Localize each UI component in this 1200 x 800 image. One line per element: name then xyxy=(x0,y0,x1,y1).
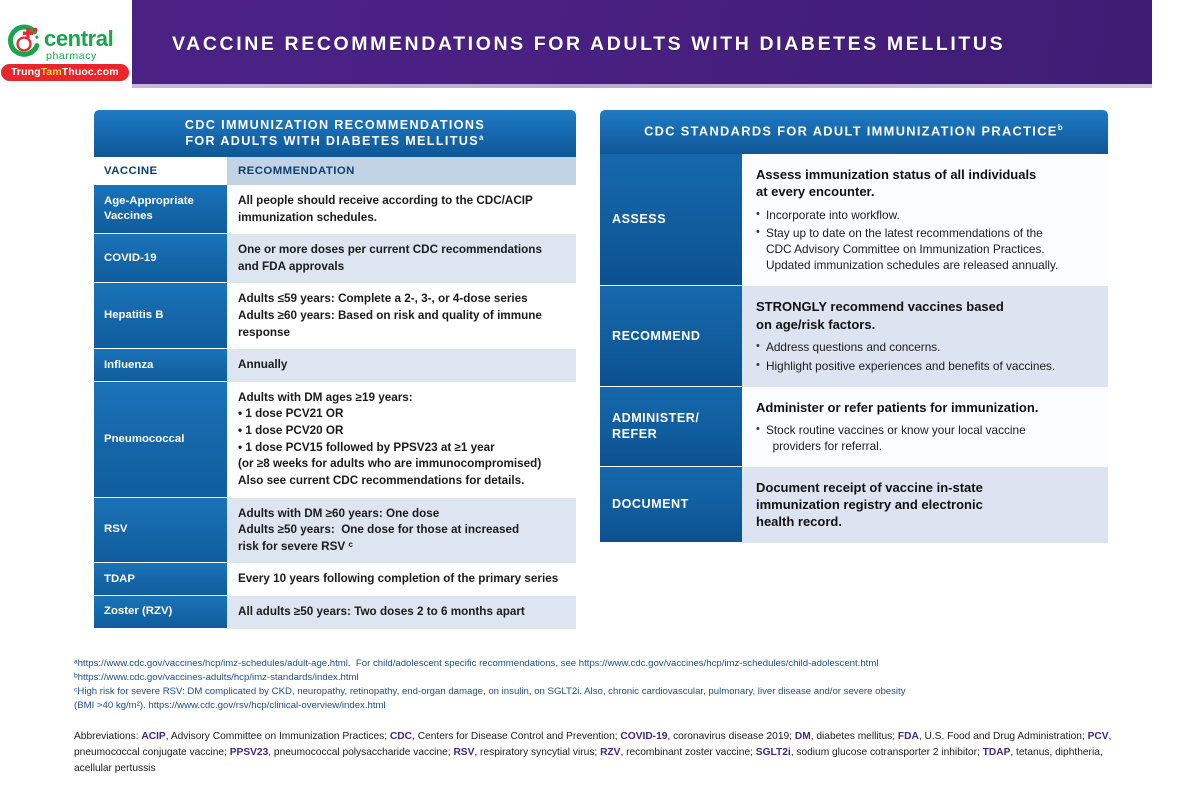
left-table-body: Age-Appropriate VaccinesAll people shoul… xyxy=(94,185,576,629)
site-badge[interactable]: TrungTamThuoc.com xyxy=(1,64,129,81)
recommendation-line: Every 10 years following completion of t… xyxy=(238,571,564,588)
vaccine-name-cell: Zoster (RZV) xyxy=(94,596,227,629)
standard-row: ADMINISTER/ REFERAdminister or refer pat… xyxy=(600,387,1108,467)
abbreviation-definition: , coronavirus disease 2019; xyxy=(667,731,794,742)
logo-wordmark: central xyxy=(44,26,113,52)
standard-label-cell: ADMINISTER/ REFER xyxy=(600,387,742,467)
recommendation-cell: One or more doses per current CDC recomm… xyxy=(227,234,576,283)
abbreviation-key: ACIP xyxy=(141,731,165,742)
recommendation-line: Adults ≥50 years: One dose for those at … xyxy=(238,522,564,539)
footnote-c: ᶜHigh risk for severe RSV: DM complicate… xyxy=(74,685,1134,713)
footnote-b: ᵇhttps://www.cdc.gov/vaccines-adults/hcp… xyxy=(74,671,1134,685)
page-header: VACCINE RECOMMENDATIONS FOR ADULTS WITH … xyxy=(0,0,1152,88)
recommendation-cell: Adults with DM ≥60 years: One doseAdults… xyxy=(227,498,576,564)
table-row: Age-Appropriate VaccinesAll people shoul… xyxy=(94,185,576,234)
recommendation-line: • 1 dose PCV21 OR xyxy=(238,406,564,423)
recommendation-line: Adults with DM ages ≥19 years: xyxy=(238,390,564,407)
recommendation-line: risk for severe RSV ᶜ xyxy=(238,539,564,556)
recommendation-line: immunization schedules. xyxy=(238,210,564,227)
recommendation-cell: Adults with DM ages ≥19 years:• 1 dose P… xyxy=(227,382,576,498)
footnote-a: ᵃhttps://www.cdc.gov/vaccines/hcp/imz-sc… xyxy=(74,657,1134,671)
page-title: VACCINE RECOMMENDATIONS FOR ADULTS WITH … xyxy=(172,0,1005,88)
central-pharmacy-logo-icon xyxy=(5,22,43,60)
standard-heading: Administer or refer patients for immuniz… xyxy=(756,399,1096,416)
right-title-footnote-marker: b xyxy=(1058,123,1064,132)
cdc-recommendations-panel: CDC IMMUNIZATION RECOMMENDATIONS FOR ADU… xyxy=(94,110,576,629)
vaccine-name-cell: RSV xyxy=(94,498,227,564)
abbreviation-key: FDA xyxy=(898,731,919,742)
recommendation-line: (or ≥8 weeks for adults who are immunoco… xyxy=(238,456,564,473)
standard-bullet-item: Stay up to date on the latest recommenda… xyxy=(756,226,1096,274)
table-row: PneumococcalAdults with DM ages ≥19 year… xyxy=(94,382,576,498)
standard-row: DOCUMENTDocument receipt of vaccine in-s… xyxy=(600,467,1108,543)
vaccine-name-cell: TDAP xyxy=(94,563,227,596)
abbreviations-block: Abbreviations: ACIP, Advisory Committee … xyxy=(74,729,1114,776)
left-title-line2: FOR ADULTS WITH DIABETES MELLITUS xyxy=(185,135,479,149)
standard-bullet-item: Address questions and concerns. xyxy=(756,340,1096,356)
abbreviation-key: COVID-19 xyxy=(620,731,667,742)
table-row: InfluenzaAnnually xyxy=(94,349,576,382)
recommendation-line: Annually xyxy=(238,357,564,374)
standard-heading: Document receipt of vaccine in-state imm… xyxy=(756,479,1096,531)
abbreviation-definition: , Advisory Committee on Immunization Pra… xyxy=(166,731,390,742)
right-title-text: CDC STANDARDS FOR ADULT IMMUNIZATION PRA… xyxy=(644,124,1058,139)
abbreviation-key: RSV xyxy=(453,747,474,758)
badge-highlight: Tam xyxy=(41,66,62,78)
standard-heading: Assess immunization status of all indivi… xyxy=(756,166,1096,201)
header-underline xyxy=(0,84,1152,88)
recommendation-line: and FDA approvals xyxy=(238,259,564,276)
standard-heading: STRONGLY recommend vaccines based on age… xyxy=(756,298,1096,333)
column-header-vaccine: VACCINE xyxy=(94,157,227,185)
vaccine-name-cell: Hepatitis B xyxy=(94,283,227,349)
standard-row: ASSESSAssess immunization status of all … xyxy=(600,154,1108,286)
recommendation-cell: All people should receive according to t… xyxy=(227,185,576,234)
right-panel-title: CDC STANDARDS FOR ADULT IMMUNIZATION PRA… xyxy=(600,110,1108,154)
recommendation-line: Adults ≤59 years: Complete a 2-, 3-, or … xyxy=(238,291,564,308)
table-row: Zoster (RZV)All adults ≥50 years: Two do… xyxy=(94,596,576,629)
column-header-recommendation: RECOMMENDATION xyxy=(227,157,576,185)
standard-bullet-item: Highlight positive experiences and benef… xyxy=(756,359,1096,375)
table-row: Hepatitis BAdults ≤59 years: Complete a … xyxy=(94,283,576,349)
abbreviation-key: SGLT2i xyxy=(756,747,791,758)
standard-label-cell: RECOMMEND xyxy=(600,286,742,386)
left-panel-title: CDC IMMUNIZATION RECOMMENDATIONS FOR ADU… xyxy=(94,110,576,157)
abbreviations-intro: Abbreviations: xyxy=(74,731,141,742)
abbreviation-key: PPSV23 xyxy=(230,747,269,758)
recommendation-line: Adults ≥60 years: Based on risk and qual… xyxy=(238,308,564,325)
left-table-header-row: VACCINE RECOMMENDATION xyxy=(94,157,576,185)
abbreviation-definition: , respiratory syncytial virus; xyxy=(474,747,600,758)
standard-bullet-list: Incorporate into workflow.Stay up to dat… xyxy=(756,205,1096,275)
standard-content-cell: Assess immunization status of all indivi… xyxy=(742,154,1108,286)
recommendation-cell: All adults ≥50 years: Two doses 2 to 6 m… xyxy=(227,596,576,629)
logo[interactable]: central pharmacy TrungTamThuoc.com xyxy=(0,0,132,88)
abbreviation-definition: , diabetes mellitus; xyxy=(811,731,898,742)
vaccine-name-cell: Pneumococcal xyxy=(94,382,227,498)
standard-label-cell: DOCUMENT xyxy=(600,467,742,543)
table-row: COVID-19One or more doses per current CD… xyxy=(94,234,576,283)
abbreviations-list: ACIP, Advisory Committee on Immunization… xyxy=(74,731,1111,774)
abbreviation-definition: , Centers for Disease Control and Preven… xyxy=(412,731,620,742)
footnotes: ᵃhttps://www.cdc.gov/vaccines/hcp/imz-sc… xyxy=(74,657,1134,713)
standard-content-cell: STRONGLY recommend vaccines based on age… xyxy=(742,286,1108,386)
vaccine-name-cell: Age-Appropriate Vaccines xyxy=(94,185,227,234)
standard-bullet-item: Incorporate into workflow. xyxy=(756,208,1096,224)
abbreviation-definition: , sodium glucose cotransporter 2 inhibit… xyxy=(791,747,983,758)
recommendation-line: Also see current CDC recommendations for… xyxy=(238,473,564,490)
logo-subtitle: pharmacy xyxy=(46,50,97,62)
right-panel-body: ASSESSAssess immunization status of all … xyxy=(600,154,1108,543)
badge-pre: Trung xyxy=(11,66,41,78)
standard-label-cell: ASSESS xyxy=(600,154,742,286)
recommendation-line: Adults with DM ≥60 years: One dose xyxy=(238,506,564,523)
standard-bullet-list: Stock routine vaccines or know your loca… xyxy=(756,420,1096,455)
abbreviation-key: CDC xyxy=(390,731,412,742)
abbreviation-key: RZV xyxy=(600,747,620,758)
standard-content-cell: Document receipt of vaccine in-state imm… xyxy=(742,467,1108,543)
standard-bullet-list: Address questions and concerns.Highlight… xyxy=(756,337,1096,375)
badge-post: Thuoc.com xyxy=(62,66,119,78)
standard-content-cell: Administer or refer patients for immuniz… xyxy=(742,387,1108,467)
recommendation-line: response xyxy=(238,325,564,342)
abbreviation-definition: , pneumococcal polysaccharide vaccine; xyxy=(268,747,453,758)
table-row: TDAPEvery 10 years following completion … xyxy=(94,563,576,596)
recommendation-line: One or more doses per current CDC recomm… xyxy=(238,242,564,259)
recommendation-cell: Annually xyxy=(227,349,576,382)
vaccine-name-cell: COVID-19 xyxy=(94,234,227,283)
recommendation-line: All people should receive according to t… xyxy=(238,193,564,210)
table-row: RSVAdults with DM ≥60 years: One doseAdu… xyxy=(94,498,576,564)
recommendation-cell: Every 10 years following completion of t… xyxy=(227,563,576,596)
cdc-standards-panel: CDC STANDARDS FOR ADULT IMMUNIZATION PRA… xyxy=(600,110,1108,543)
recommendation-line: • 1 dose PCV20 OR xyxy=(238,423,564,440)
abbreviation-key: DM xyxy=(795,731,811,742)
recommendation-line: • 1 dose PCV15 followed by PPSV23 at ≥1 … xyxy=(238,440,564,457)
recommendation-line: All adults ≥50 years: Two doses 2 to 6 m… xyxy=(238,604,564,621)
standard-row: RECOMMENDSTRONGLY recommend vaccines bas… xyxy=(600,286,1108,386)
abbreviation-definition: , recombinant zoster vaccine; xyxy=(620,747,755,758)
recommendation-cell: Adults ≤59 years: Complete a 2-, 3-, or … xyxy=(227,283,576,349)
left-title-line1: CDC IMMUNIZATION RECOMMENDATIONS xyxy=(185,118,485,132)
standard-bullet-item: Stock routine vaccines or know your loca… xyxy=(756,423,1096,455)
abbreviation-key: TDAP xyxy=(983,747,1011,758)
infographic-page: VACCINE RECOMMENDATIONS FOR ADULTS WITH … xyxy=(0,0,1200,800)
abbreviation-definition: , U.S. Food and Drug Administration; xyxy=(919,731,1088,742)
vaccine-name-cell: Influenza xyxy=(94,349,227,382)
abbreviation-key: PCV xyxy=(1088,731,1109,742)
left-title-footnote-marker: a xyxy=(479,133,485,142)
